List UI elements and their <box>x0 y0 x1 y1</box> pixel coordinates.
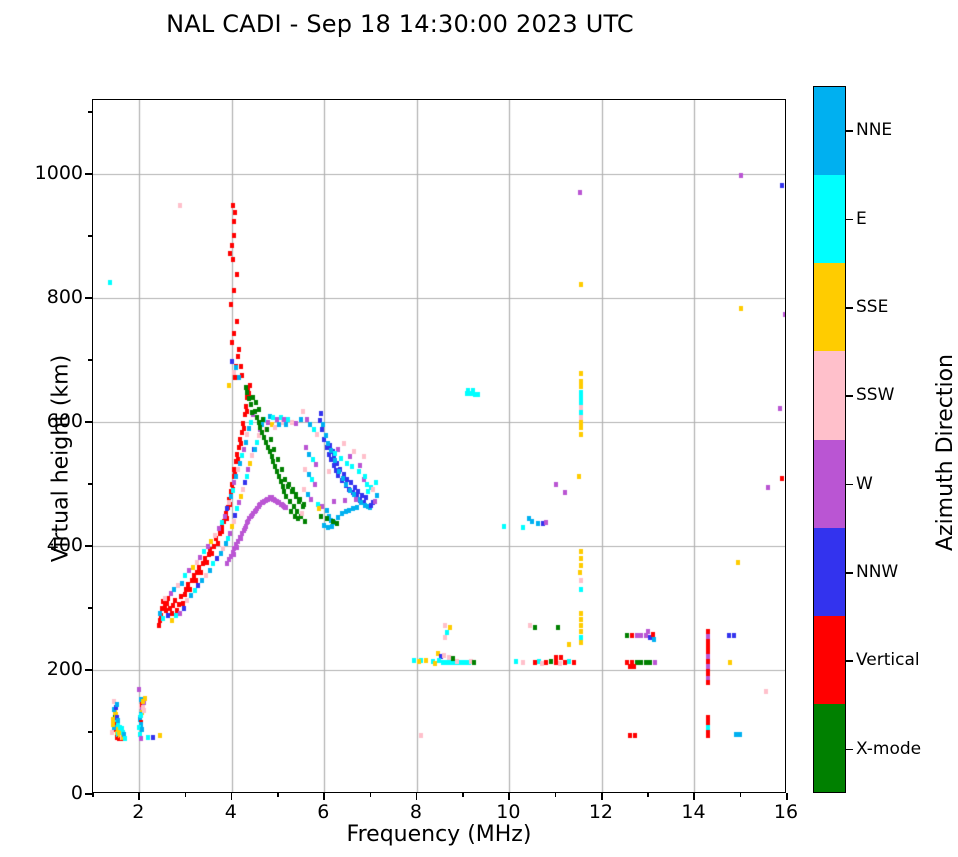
x-tick-mark <box>138 793 140 800</box>
x-tick-label: 12 <box>589 801 613 823</box>
y-tick-mark <box>85 545 92 547</box>
colorbar-segment-nnw[interactable] <box>814 528 845 616</box>
x-tick-label: 10 <box>496 801 520 823</box>
colorbar-tick-mark <box>846 130 853 132</box>
x-tick-mark-minor <box>462 793 464 797</box>
x-tick-mark-minor <box>92 793 94 797</box>
y-tick-mark <box>85 297 92 299</box>
colorbar-label-e: E <box>856 209 867 229</box>
y-tick-mark <box>85 173 92 175</box>
x-tick-mark-minor <box>647 793 649 797</box>
y-tick-mark <box>85 421 92 423</box>
x-tick-mark-minor <box>555 793 557 797</box>
colorbar-label-nnw: NNW <box>856 562 898 582</box>
colorbar-label-w: W <box>856 474 873 494</box>
colorbar-segment-sse[interactable] <box>814 263 845 351</box>
x-tick-mark <box>693 793 695 800</box>
y-tick-mark-minor <box>88 359 92 361</box>
page-title: NAL CADI - Sep 18 14:30:00 2023 UTC <box>0 10 800 38</box>
x-tick-mark-minor <box>185 793 187 797</box>
y-tick-mark-minor <box>88 111 92 113</box>
x-tick-label: 2 <box>132 801 144 823</box>
colorbar-segment-nne[interactable] <box>814 87 845 175</box>
colorbar-tick-mark <box>846 749 853 751</box>
colorbar-segment-e[interactable] <box>814 175 845 263</box>
colorbar-label-sse: SSE <box>856 297 888 317</box>
x-tick-mark-minor <box>740 793 742 797</box>
y-tick-mark-minor <box>88 483 92 485</box>
colorbar[interactable] <box>813 86 846 793</box>
x-tick-mark <box>601 793 603 800</box>
x-axis-label: Frequency (MHz) <box>92 822 786 847</box>
y-tick-mark <box>85 793 92 795</box>
y-tick-mark <box>85 669 92 671</box>
colorbar-segment-ssw[interactable] <box>814 351 845 439</box>
x-tick-label: 14 <box>681 801 705 823</box>
colorbar-tick-mark <box>846 484 853 486</box>
x-tick-mark-minor <box>277 793 279 797</box>
colorbar-tick-mark <box>846 660 853 662</box>
colorbar-label-vertical: Vertical <box>856 650 920 670</box>
y-axis-label: Virtual height (km) <box>49 112 74 806</box>
colorbar-tick-mark <box>846 395 853 397</box>
colorbar-label: Azimuth Direction <box>933 99 958 806</box>
y-tick-mark-minor <box>88 235 92 237</box>
x-tick-label: 8 <box>410 801 422 823</box>
x-tick-mark <box>786 793 788 800</box>
x-tick-mark <box>508 793 510 800</box>
x-tick-label: 6 <box>317 801 329 823</box>
plot-area[interactable] <box>92 99 786 793</box>
x-tick-mark <box>416 793 418 800</box>
x-tick-mark <box>323 793 325 800</box>
colorbar-label-nne: NNE <box>856 120 892 140</box>
colorbar-tick-mark <box>846 219 853 221</box>
colorbar-segment-x-mode[interactable] <box>814 704 845 792</box>
x-tick-mark-minor <box>370 793 372 797</box>
scatter-canvas <box>93 100 786 793</box>
y-tick-mark-minor <box>88 607 92 609</box>
colorbar-label-ssw: SSW <box>856 385 894 405</box>
ionogram-figure: NAL CADI - Sep 18 14:30:00 2023 UTC 0200… <box>0 0 958 857</box>
colorbar-tick-mark <box>846 307 853 309</box>
x-tick-mark <box>231 793 233 800</box>
y-tick-mark-minor <box>88 731 92 733</box>
colorbar-tick-mark <box>846 572 853 574</box>
colorbar-segment-vertical[interactable] <box>814 616 845 704</box>
colorbar-segment-w[interactable] <box>814 440 845 528</box>
x-tick-label: 16 <box>774 801 798 823</box>
colorbar-label-x-mode: X-mode <box>856 739 921 759</box>
x-tick-label: 4 <box>225 801 237 823</box>
